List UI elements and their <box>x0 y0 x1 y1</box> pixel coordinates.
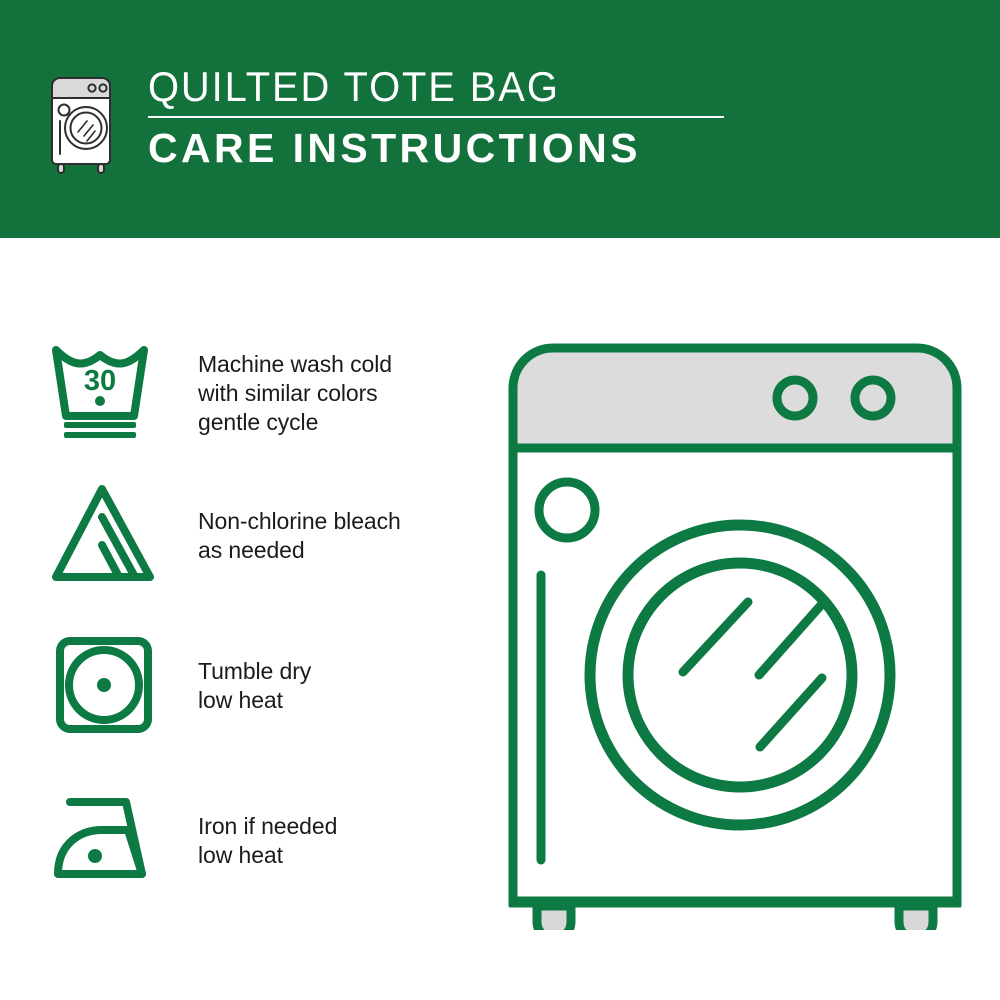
care-label-line: as needed <box>198 536 401 565</box>
header-content: QUILTED TOTE BAG CARE INSTRUCTIONS <box>44 62 944 182</box>
washing-machine-icon <box>44 66 122 178</box>
care-label-line: Non-chlorine bleach <box>198 507 401 536</box>
care-item-bleach: Non-chlorine bleach as needed <box>50 483 470 603</box>
care-item-label: Machine wash cold with similar colors ge… <box>198 350 392 437</box>
header-band: QUILTED TOTE BAG CARE INSTRUCTIONS <box>0 0 1000 238</box>
care-item-label: Iron if needed low heat <box>198 812 337 870</box>
care-label-line: gentle cycle <box>198 408 392 437</box>
care-item-label: Tumble dry low heat <box>198 657 311 715</box>
care-label-line: Iron if needed <box>198 812 337 841</box>
care-label-line: low heat <box>198 841 337 870</box>
care-label-line: Machine wash cold <box>198 350 392 379</box>
bleach-triangle-icon <box>50 483 165 588</box>
page-title-secondary: CARE INSTRUCTIONS <box>148 124 748 172</box>
care-label-line: with similar colors <box>198 379 392 408</box>
care-label-line: Tumble dry <box>198 657 311 686</box>
care-item-machine-wash: 30 Machine wash cold with similar colors… <box>50 338 470 458</box>
header-title-block: QUILTED TOTE BAG CARE INSTRUCTIONS <box>148 62 748 172</box>
machine-leg-right <box>899 906 933 930</box>
care-instructions-page: QUILTED TOTE BAG CARE INSTRUCTIONS 30 <box>0 0 1000 1000</box>
tumble-dry-square-icon <box>50 633 165 738</box>
care-item-label: Non-chlorine bleach as needed <box>198 507 401 565</box>
page-title-primary: QUILTED TOTE BAG <box>148 62 718 112</box>
care-symbol-list: 30 Machine wash cold with similar colors… <box>0 238 480 1000</box>
washing-machine-illustration <box>495 330 975 930</box>
care-label-line: low heat <box>198 686 311 715</box>
wash-tub-30-icon: 30 <box>50 338 165 443</box>
iron-icon <box>50 788 165 893</box>
wash-temperature-label: 30 <box>84 365 116 397</box>
title-divider <box>148 116 724 118</box>
machine-leg-left <box>537 906 571 930</box>
care-item-tumble-dry: Tumble dry low heat <box>50 633 470 753</box>
care-item-iron: Iron if needed low heat <box>50 788 470 908</box>
